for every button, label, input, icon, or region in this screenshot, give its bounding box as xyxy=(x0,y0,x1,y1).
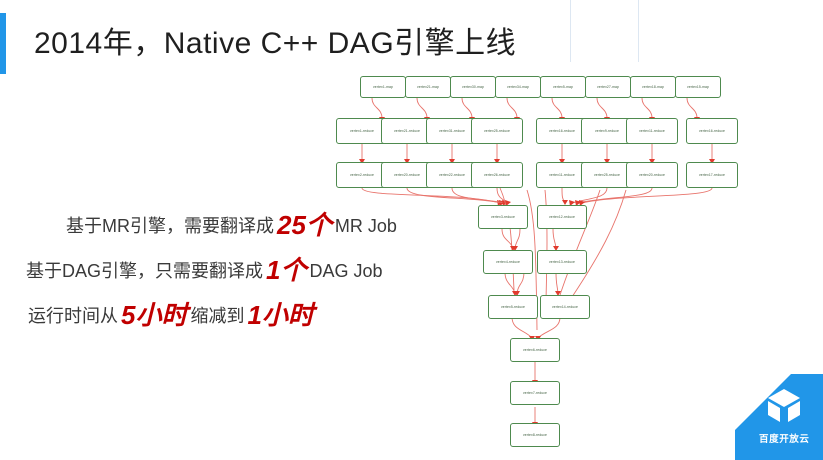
dag-node[interactable]: vertex34-map xyxy=(495,76,541,98)
list-item: 基于MR引擎，需要翻译成25个MR Job xyxy=(18,212,488,238)
dag-node[interactable]: vertex27-map xyxy=(585,76,631,98)
dag-node[interactable]: vertex30-map xyxy=(450,76,496,98)
bullet-prefix: 基于DAG引擎，只需要翻译成 xyxy=(26,261,263,281)
cube-icon xyxy=(766,388,802,426)
list-item: 基于DAG引擎，只需要翻译成1个DAG Job xyxy=(18,257,488,283)
bullet-prefix: 运行时间从 xyxy=(28,306,118,326)
dag-node[interactable]: vertex4-reduce xyxy=(483,250,533,274)
dag-node[interactable]: vertex17-reduce xyxy=(686,162,738,188)
dag-node[interactable]: vertex12-reduce xyxy=(537,205,587,229)
dag-node[interactable]: vertex21-map xyxy=(405,76,451,98)
bullet-highlight: 25个 xyxy=(274,210,335,240)
bullet-suffix: DAG Job xyxy=(309,261,382,281)
bullet-highlight: 5小时 xyxy=(118,300,190,330)
logo-text: 百度开放云 xyxy=(759,431,810,445)
list-item: 运行时间从5小时缩减到1小时 xyxy=(18,302,488,328)
dag-node[interactable]: vertex11-reduce xyxy=(626,118,678,144)
dag-node[interactable]: vertex15-map xyxy=(675,76,721,98)
dag-node[interactable]: vertex7-reduce xyxy=(510,381,560,405)
bullet-list: 基于MR引擎，需要翻译成25个MR Job 基于DAG引擎，只需要翻译成1个DA… xyxy=(18,212,488,347)
bullet-highlight-2: 1小时 xyxy=(244,300,316,330)
dag-node[interactable]: vertex25-reduce xyxy=(471,118,523,144)
dag-node[interactable]: vertex5-map xyxy=(540,76,586,98)
dag-node[interactable]: vertex1-map xyxy=(360,76,406,98)
dag-node[interactable]: vertex5-reduce xyxy=(488,295,538,319)
bullet-highlight: 1个 xyxy=(263,255,309,285)
bullet-suffix: MR Job xyxy=(335,216,397,236)
brand-logo: 百度开放云 xyxy=(735,374,823,460)
dag-node[interactable]: vertex13-reduce xyxy=(537,250,587,274)
dag-node[interactable]: vertex18-map xyxy=(630,76,676,98)
dag-node[interactable]: vertex14-reduce xyxy=(540,295,590,319)
bullet-mid: 缩减到 xyxy=(190,306,244,326)
dag-node[interactable]: vertex8-reduce xyxy=(510,423,560,447)
slide-canvas: 2014年，Native C++ DAG引擎上线 xyxy=(0,0,823,460)
bullet-prefix: 基于MR引擎，需要翻译成 xyxy=(66,216,274,236)
dag-node[interactable]: vertex20-reduce xyxy=(626,162,678,188)
dag-node[interactable]: vertex26-reduce xyxy=(471,162,523,188)
dag-node[interactable]: vertex6-reduce xyxy=(510,338,560,362)
dag-node[interactable]: vertex16-reduce xyxy=(686,118,738,144)
